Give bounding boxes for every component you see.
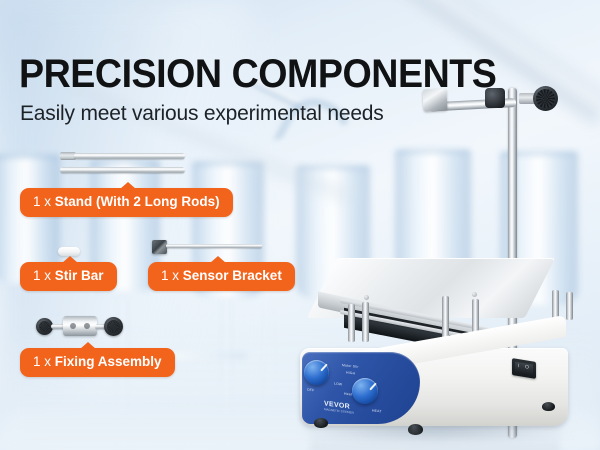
badge-stir-bar-label: Stir Bar xyxy=(55,268,104,283)
badge-stir-bar-qty: 1 x xyxy=(33,268,55,283)
speed-knob-indicator xyxy=(320,363,328,371)
plate-support-post xyxy=(566,292,573,320)
dial-label-high: HIGH xyxy=(346,371,355,376)
stand-rod-long-2 xyxy=(60,167,185,173)
badge-fixing-assembly-label: Fixing Assembly xyxy=(55,354,162,369)
plate-support-post xyxy=(442,296,449,340)
badge-pointer-icon xyxy=(120,182,136,189)
promo-image: PRECISION COMPONENTS Easily meet various… xyxy=(0,0,600,450)
plate-screw-icon xyxy=(364,295,369,300)
plate-screw-icon xyxy=(472,292,477,297)
badge-fixing-assembly: 1 x Fixing Assembly xyxy=(20,348,175,377)
badge-stand-qty: 1 x xyxy=(33,194,55,209)
dial-label-low: LOW xyxy=(334,382,342,387)
power-switch-off-mark: O xyxy=(525,365,529,371)
fixing-assembly-hole xyxy=(84,323,90,329)
badge-sensor-bracket-label: Sensor Bracket xyxy=(183,268,282,283)
power-switch[interactable]: I O xyxy=(512,358,536,379)
dial-label-off-left: OFF xyxy=(307,388,314,393)
sensor-bracket-clamp xyxy=(152,240,167,254)
heat-knob[interactable] xyxy=(352,378,378,404)
fixing-assembly-knob-right xyxy=(104,317,123,336)
badge-pointer-icon xyxy=(210,256,226,263)
stand-arm-end-block xyxy=(422,88,447,111)
sensor-bracket-rod xyxy=(166,244,262,248)
badge-stand-label: Stand (With 2 Long Rods) xyxy=(55,194,220,209)
page-title: PRECISION COMPONENTS xyxy=(19,54,496,94)
stand-arm-clamp xyxy=(485,88,505,108)
badge-sensor-bracket-qty: 1 x xyxy=(161,268,183,283)
power-switch-on-mark: I xyxy=(518,364,519,369)
badge-fixing-assembly-qty: 1 x xyxy=(33,354,55,369)
stir-bar-part xyxy=(58,247,80,256)
rubber-foot xyxy=(542,402,555,411)
dial-label-heat-right: HEAT xyxy=(372,408,382,413)
stand-rod-long-1 xyxy=(74,153,185,159)
magnetic-stirrer-hotplate: Motor Stir HIGH LOW OFF Heat HEAT VEVOR … xyxy=(300,252,595,447)
rubber-foot xyxy=(314,418,328,428)
heat-knob-indicator xyxy=(369,382,377,390)
badge-sensor-bracket: 1 x Sensor Bracket xyxy=(148,262,295,291)
plate-support-post xyxy=(348,304,355,342)
fixing-assembly-hole xyxy=(70,323,76,329)
dial-label-heat: Heat xyxy=(344,392,352,397)
speed-knob[interactable] xyxy=(304,360,329,385)
fixing-assembly-body xyxy=(63,316,97,336)
stand-adjust-knob xyxy=(533,86,558,111)
badge-pointer-icon xyxy=(62,256,78,263)
plate-support-post xyxy=(362,302,369,342)
badge-stand: 1 x Stand (With 2 Long Rods) xyxy=(20,188,233,217)
badge-stir-bar: 1 x Stir Bar xyxy=(20,262,117,291)
product-reflection xyxy=(310,428,560,450)
badge-pointer-icon xyxy=(80,342,96,349)
page-subtitle: Easily meet various experimental needs xyxy=(20,101,384,127)
